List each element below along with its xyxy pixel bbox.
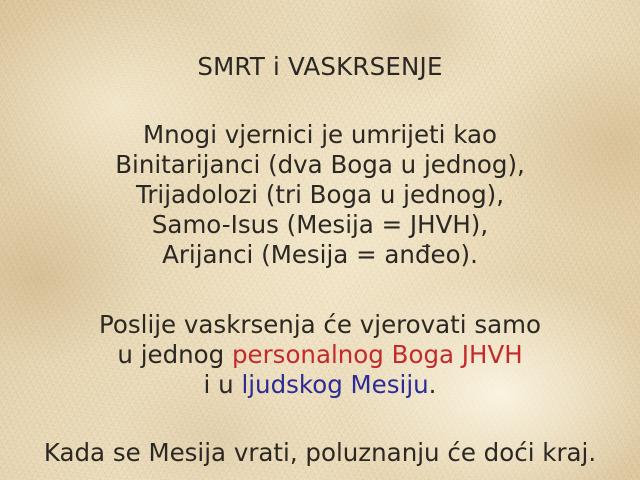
beliefs-line-3: Trijadolozi (tri Boga u jednog), [0, 180, 640, 210]
page-title: SMRT i VASKRSENJE [0, 52, 640, 82]
conclusion-line-1: Kada se Mesija vrati, poluznanju će doći… [0, 438, 640, 468]
highlight-blue-messiah: ljudskog Mesiju [241, 370, 428, 399]
beliefs-line-1: Mnogi vjernici je umrijeti kao [0, 120, 640, 150]
spacer-after-resurrection [0, 400, 640, 438]
slide-canvas: SMRT i VASKRSENJE Mnogi vjernici je umri… [0, 0, 640, 480]
highlight-red-god: personalnog Boga JHVH [232, 340, 523, 369]
resurrection-line-2: u jednog personalnog Boga JHVH [0, 340, 640, 370]
resurrection-line-3-prefix: i u [204, 370, 242, 399]
beliefs-line-2: Binitarijanci (dva Boga u jednog), [0, 150, 640, 180]
paragraph-beliefs: Mnogi vjernici je umrijeti kao Binitarij… [0, 120, 640, 270]
paragraph-conclusion: Kada se Mesija vrati, poluznanju će doći… [0, 438, 640, 468]
beliefs-line-5: Arijanci (Mesija = anđeo). [0, 240, 640, 270]
spacer-after-beliefs [0, 270, 640, 310]
resurrection-line-2-prefix: u jednog [117, 340, 232, 369]
paragraph-resurrection: Poslije vaskrsenja će vjerovati samo u j… [0, 310, 640, 400]
slide-content: SMRT i VASKRSENJE Mnogi vjernici je umri… [0, 0, 640, 480]
beliefs-line-4: Samo-Isus (Mesija = JHVH), [0, 210, 640, 240]
resurrection-line-3-suffix: . [429, 370, 437, 399]
spacer-after-title [0, 82, 640, 120]
resurrection-line-1: Poslije vaskrsenja će vjerovati samo [0, 310, 640, 340]
resurrection-line-3: i u ljudskog Mesiju. [0, 370, 640, 400]
